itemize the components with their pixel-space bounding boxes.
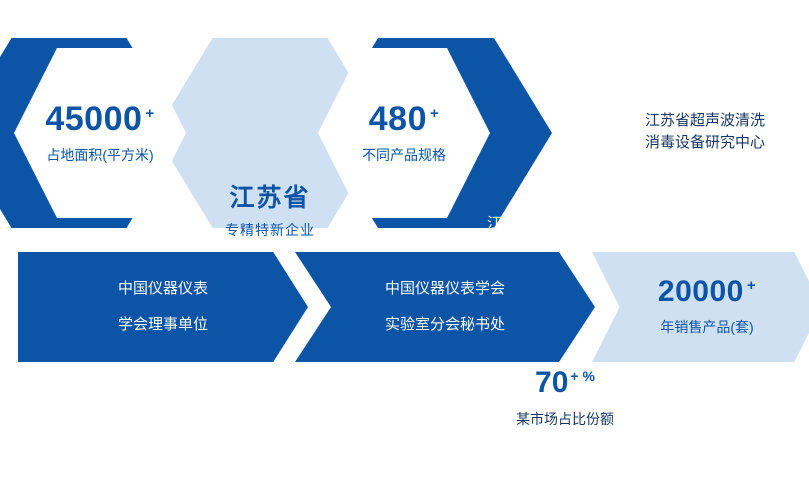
stat-market-share: 70+ % 某市场占比份额: [480, 368, 650, 429]
stat-area-value-wrap: 45000+: [45, 102, 154, 136]
stat-specs-value-wrap: 480+: [369, 102, 440, 136]
banner-instrument-society-line-2: 学会理事单位: [118, 314, 208, 336]
stat-market-share-caption: 某市场占比份额: [480, 409, 650, 429]
center-badge: 江苏省 专精特新企业: [180, 185, 360, 240]
stat-area-caption: 占地面积(平方米): [46, 146, 153, 164]
stat-annual-sales-value: 20000: [658, 275, 744, 308]
label-high-tech-enterprise-line-1: 江苏省高新技术企业: [487, 213, 622, 235]
stat-annual-sales-superscript: +: [747, 277, 756, 294]
label-research-center-line-1: 江苏省超声波清洗: [645, 110, 765, 132]
banner-instrument-society-line-1: 中国仪器仪表: [118, 278, 208, 300]
label-high-tech-enterprise: 江苏省高新技术企业: [487, 213, 622, 235]
stat-market-share-value-wrap: 70+ %: [480, 368, 650, 398]
label-research-center: 江苏省超声波清洗 消毒设备研究中心: [645, 110, 765, 154]
stat-specs-superscript: +: [430, 105, 439, 122]
infographic-canvas: 45000+ 占地面积(平方米) 480+ 不同产品规格 江苏省 专精特新企业 …: [0, 0, 809, 487]
banner-annual-sales: 20000+ 年销售产品(套): [592, 252, 809, 362]
stat-area-superscript: +: [145, 105, 154, 122]
stat-annual-sales-value-wrap: 20000+: [658, 277, 756, 307]
stat-market-share-value: 70: [535, 366, 568, 399]
banner-instrument-society: 中国仪器仪表 学会理事单位: [18, 252, 308, 362]
stat-specs-caption: 不同产品规格: [362, 146, 446, 164]
stat-annual-sales-caption: 年销售产品(套): [660, 318, 753, 336]
center-badge-title: 江苏省: [180, 185, 360, 213]
stat-area-value: 45000: [45, 100, 142, 138]
stat-market-share-superscript: + %: [570, 368, 595, 384]
banner-lab-branch-secretariat: 中国仪器仪表学会 实验室分会秘书处: [295, 252, 595, 362]
stat-specs-value: 480: [369, 100, 427, 138]
center-badge-subtitle: 专精特新企业: [180, 220, 360, 240]
banner-lab-branch-line-2: 实验室分会秘书处: [385, 314, 505, 336]
label-research-center-line-2: 消毒设备研究中心: [645, 132, 765, 154]
banner-lab-branch-line-1: 中国仪器仪表学会: [385, 278, 505, 300]
